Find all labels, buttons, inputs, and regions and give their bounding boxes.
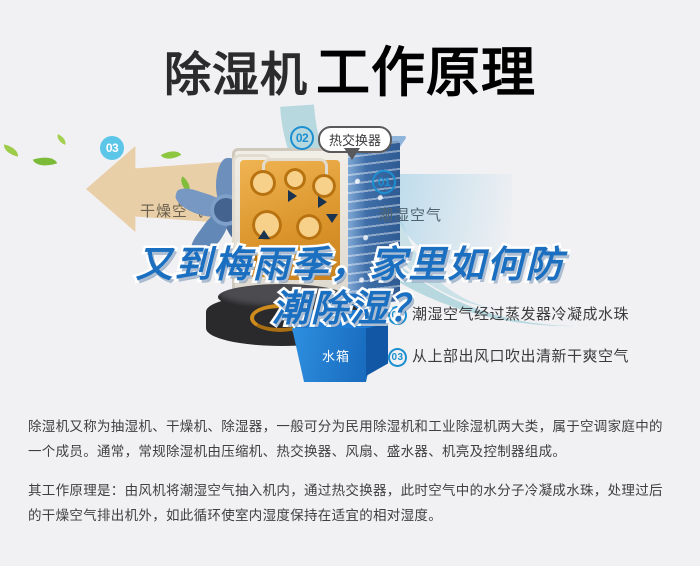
flow-arrow-icon — [326, 214, 338, 223]
badge-02: 02 — [290, 126, 314, 150]
infographic-page: 除湿机工作原理 干燥空气 — [0, 0, 700, 566]
flow-arrow-icon — [318, 196, 327, 208]
flow-arrow-icon — [258, 230, 270, 239]
water-tank-label: 水箱 — [322, 346, 350, 365]
humid-air-label: 潮湿空气 — [378, 204, 442, 225]
leaf-icon — [33, 153, 57, 170]
water-tank-side — [366, 324, 388, 376]
coil-icon — [254, 246, 276, 268]
callout-tail-icon — [344, 148, 360, 160]
badge-01: 01 — [372, 170, 396, 194]
caption-step-03: 03从上部出风口吹出清新干爽空气 — [388, 345, 629, 367]
leaf-icon — [55, 134, 68, 145]
caption-step-02: 02潮湿空气经过蒸发器冷凝成水珠 — [388, 303, 629, 325]
water-tank: 水箱 — [292, 310, 388, 382]
caption-text-03: 从上部出风口吹出清新干爽空气 — [412, 348, 629, 365]
body-paragraph-1: 除湿机又称为抽湿机、干燥机、除湿器，一般可分为民用除湿机和工业除湿机两大类，属于… — [28, 414, 676, 464]
coil-icon — [250, 170, 276, 196]
coil-icon — [312, 174, 336, 198]
page-title: 除湿机工作原理 — [0, 28, 700, 107]
flow-arrow-icon — [288, 190, 297, 202]
title-part-dehumidifier: 除湿机 — [164, 48, 308, 101]
caption-badge-03: 03 — [388, 348, 407, 367]
leaf-icon — [2, 144, 20, 156]
badge-03: 03 — [100, 136, 124, 160]
coil-icon — [284, 168, 306, 190]
caption-badge-02: 02 — [388, 306, 407, 325]
body-copy: 除湿机又称为抽湿机、干燥机、除湿器，一般可分为民用除湿机和工业除湿机两大类，属于… — [28, 414, 676, 528]
body-paragraph-2: 其工作原理是：由风机将潮湿空气抽入机内，通过热交换器，此时空气中的水分子冷凝成水… — [28, 478, 676, 528]
caption-text-02: 潮湿空气经过蒸发器冷凝成水珠 — [412, 306, 629, 323]
coil-icon — [296, 214, 322, 240]
